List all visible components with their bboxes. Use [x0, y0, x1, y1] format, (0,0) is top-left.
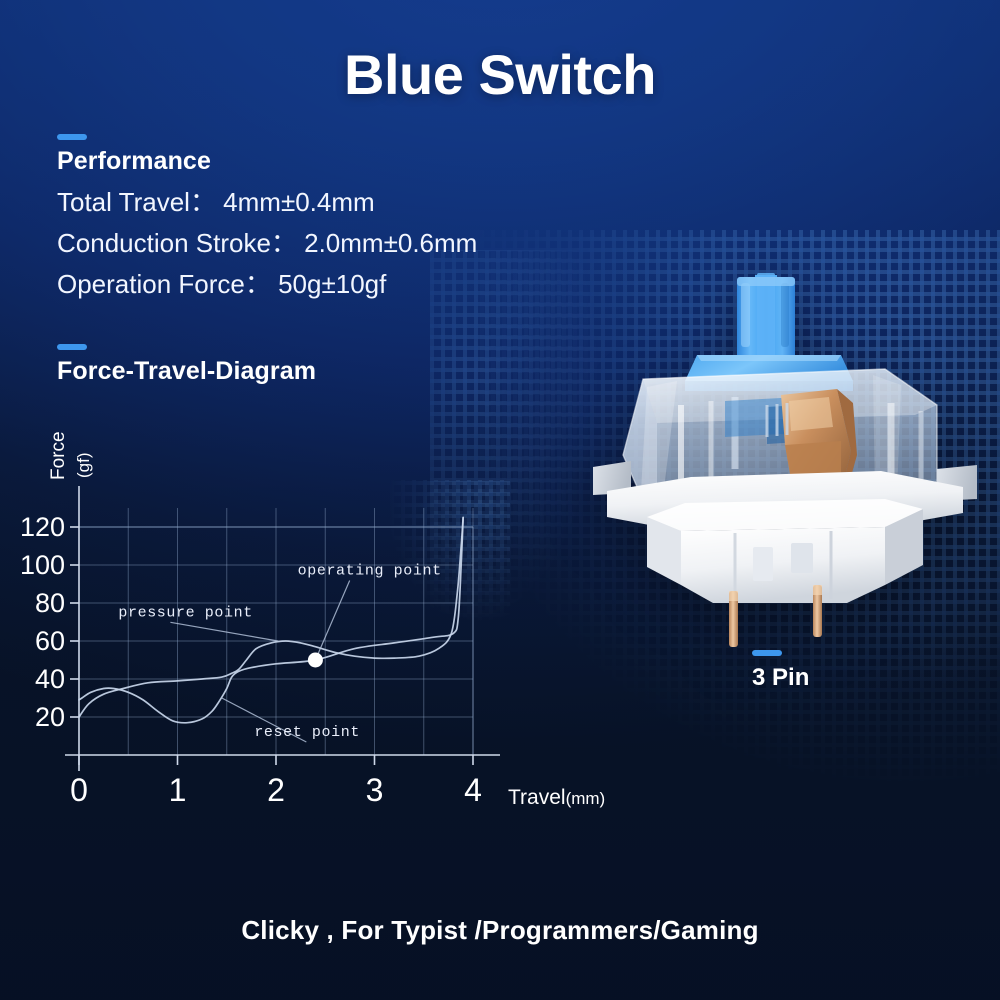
spec-total-travel: Total Travel： 4mm±0.4mm	[57, 182, 537, 223]
x-axis-title: Travel(mm)	[508, 786, 605, 810]
chart-svg: 20406080100120 01234 operating pointpres…	[20, 390, 500, 870]
chart-x-tick-labels: 01234	[70, 755, 482, 808]
y-tick-label: 100	[20, 550, 65, 580]
switch-stem	[737, 273, 795, 361]
annotation-label-reset-point: reset point	[254, 724, 360, 741]
accent-bar-pin	[752, 650, 782, 656]
marker-operating-point	[308, 653, 323, 668]
chart-annotations: operating pointpressure pointreset point	[118, 563, 441, 743]
annotation-label-operating-point: operating point	[298, 563, 442, 580]
chart-gridlines	[79, 508, 473, 755]
page-title: Blue Switch	[0, 42, 1000, 107]
force-travel-chart: 20406080100120 01234 operating pointpres…	[20, 390, 500, 870]
product-image-blue-switch	[585, 255, 985, 655]
y-tick-label: 80	[35, 588, 65, 618]
x-tick-label: 4	[464, 772, 482, 808]
pin-count-label: 3 Pin	[752, 664, 809, 692]
x-tick-label: 3	[366, 772, 384, 808]
y-tick-label: 20	[35, 702, 65, 732]
switch-illustration	[585, 255, 985, 655]
force-diagram-heading: Force-Travel-Diagram	[57, 357, 527, 386]
accent-bar-force-diagram	[57, 344, 87, 350]
footer-caption: Clicky , For Typist /Programmers/Gaming	[0, 915, 1000, 946]
performance-section: Performance Total Travel： 4mm±0.4mm Cond…	[57, 134, 537, 305]
accent-bar-performance	[57, 134, 87, 140]
pin-count-section: 3 Pin	[752, 650, 809, 692]
x-axis-title-text: Travel	[508, 786, 566, 809]
y-tick-label: 120	[20, 512, 65, 542]
spec-conduction-stroke: Conduction Stroke： 2.0mm±0.6mm	[57, 223, 537, 264]
x-tick-label: 0	[70, 772, 88, 808]
x-axis-unit: (mm)	[566, 789, 606, 808]
spec-operation-force: Operation Force： 50g±10gf	[57, 264, 537, 305]
chart-y-tick-labels: 20406080100120	[20, 512, 79, 732]
leader-line-pressure-point	[170, 622, 278, 641]
y-tick-label: 40	[35, 664, 65, 694]
annotation-label-pressure-point: pressure point	[118, 604, 252, 621]
x-tick-label: 1	[169, 772, 187, 808]
force-diagram-section: Force-Travel-Diagram	[57, 344, 527, 386]
y-tick-label: 60	[35, 626, 65, 656]
leader-line-operating-point	[315, 581, 349, 661]
performance-heading: Performance	[57, 147, 537, 176]
performance-spec-list: Total Travel： 4mm±0.4mm Conduction Strok…	[57, 182, 537, 305]
x-tick-label: 2	[267, 772, 285, 808]
